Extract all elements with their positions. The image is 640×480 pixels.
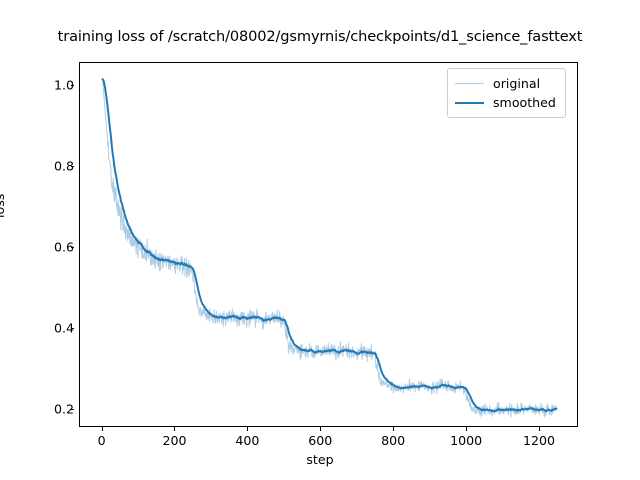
x-tick-1000: 1000	[436, 433, 496, 448]
y-tick-1.0: 1.0	[4, 78, 74, 93]
x-tick-800: 800	[363, 433, 423, 448]
y-tick-mark	[71, 166, 75, 167]
y-tick-mark	[71, 409, 75, 410]
x-tick-400: 400	[217, 433, 277, 448]
y-tick-0.8: 0.8	[4, 159, 74, 174]
legend-swatch-original	[455, 83, 484, 84]
y-tick-mark	[71, 85, 75, 86]
x-axis-tick-labels: 020040060080010001200	[79, 427, 578, 457]
x-tick-0: 0	[72, 433, 132, 448]
legend-label-smoothed: smoothed	[493, 95, 556, 110]
y-tick-0.4: 0.4	[4, 320, 74, 335]
legend-swatch-smoothed	[455, 102, 484, 104]
x-tick-600: 600	[290, 433, 350, 448]
legend-label-original: original	[493, 76, 540, 91]
y-tick-0.2: 0.2	[4, 401, 74, 416]
y-tick-0.6: 0.6	[4, 240, 74, 255]
matplotlib-figure: training loss of /scratch/08002/gsmyrnis…	[0, 0, 640, 480]
x-tick-200: 200	[144, 433, 204, 448]
chart-title: training loss of /scratch/08002/gsmyrnis…	[0, 28, 640, 45]
y-axis-tick-labels: 0.20.40.60.81.0	[0, 62, 74, 427]
series-line-original	[103, 79, 557, 417]
legend-entry-smoothed: smoothed	[455, 93, 556, 112]
legend: original smoothed	[447, 68, 566, 118]
x-tick-1200: 1200	[509, 433, 569, 448]
y-tick-mark	[71, 247, 75, 248]
series-line-smoothed	[103, 79, 557, 411]
legend-entry-original: original	[455, 74, 556, 93]
y-tick-mark	[71, 328, 75, 329]
